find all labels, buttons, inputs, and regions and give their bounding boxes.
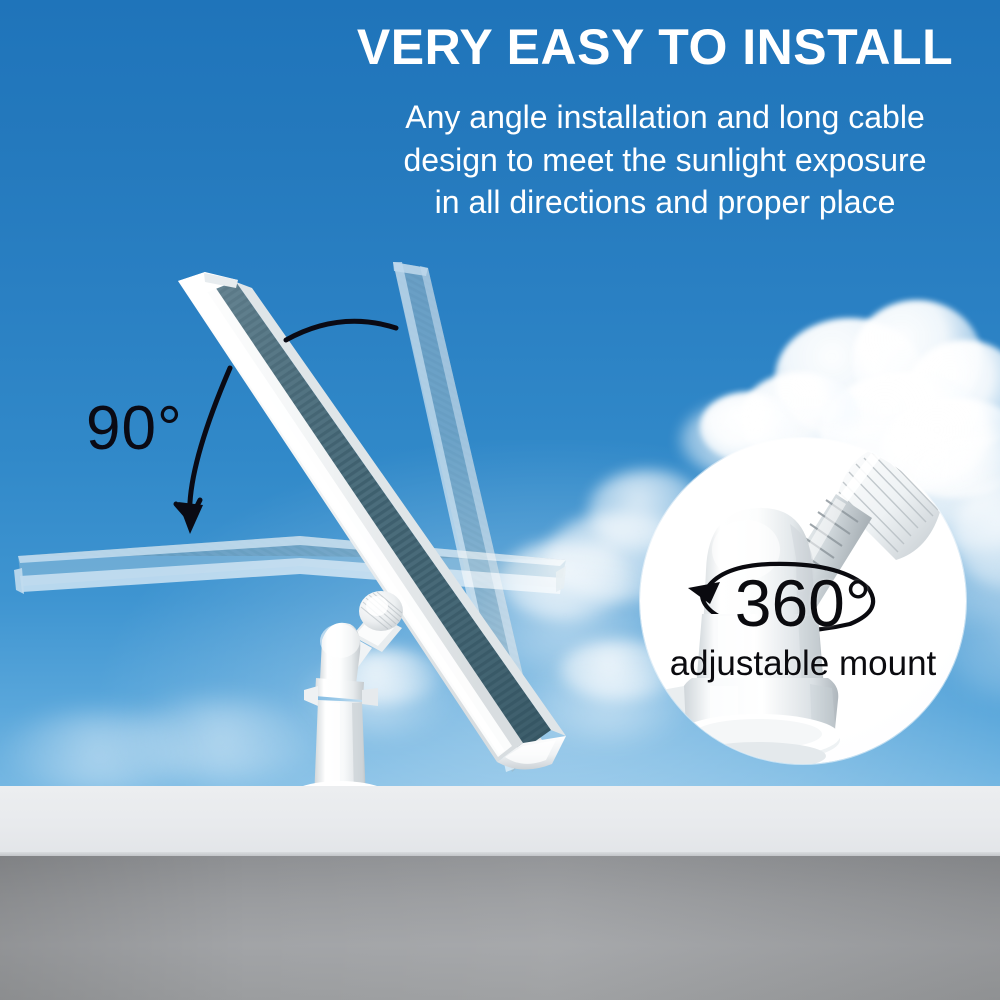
page-subheading: Any angle installation and long cable de…: [355, 96, 975, 224]
adjustable-wall-mount: [304, 591, 403, 800]
rotation-caption: adjustable mount: [640, 646, 966, 681]
rotation-angle-label: 360°: [640, 570, 966, 636]
product-feature-image: VERY EASY TO INSTALL Any angle installat…: [0, 0, 1000, 1000]
table-surface-front: [0, 856, 1000, 1000]
table-surface-top: [0, 786, 1000, 856]
base-collar: [662, 678, 840, 764]
tilt-angle-label: 90°: [86, 398, 183, 460]
page-headline: VERY EASY TO INSTALL: [330, 22, 980, 73]
subheading-line-3: in all directions and proper place: [355, 181, 975, 224]
subheading-line-1: Any angle installation and long cable: [355, 96, 975, 139]
subheading-line-2: design to meet the sunlight exposure: [355, 139, 975, 182]
inset-detail-circle: 360° adjustable mount: [640, 438, 966, 764]
